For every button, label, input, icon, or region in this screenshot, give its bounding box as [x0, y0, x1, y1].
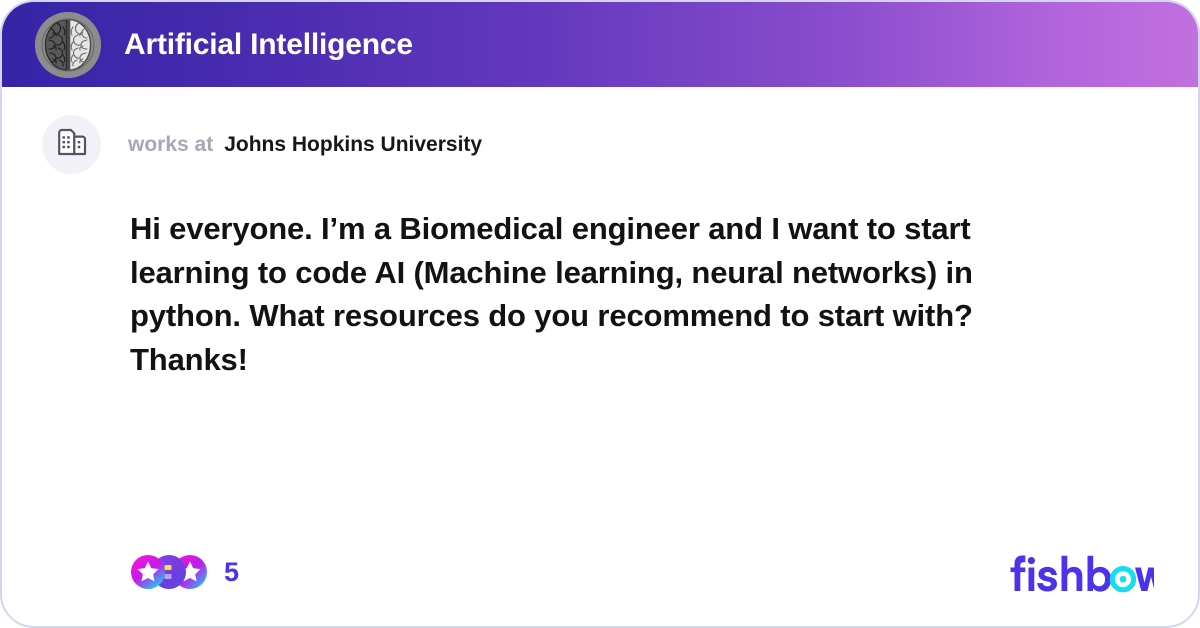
star-reaction-icon[interactable] — [130, 554, 166, 590]
reaction-count: 5 — [224, 559, 239, 586]
works-at-label: works at — [128, 133, 213, 157]
author-row: works at Johns Hopkins University — [2, 87, 1198, 174]
post-footer: 5 — [2, 518, 1198, 626]
fishbowl-logo — [1004, 549, 1154, 595]
bowl-avatar — [35, 12, 101, 78]
post-text: Hi everyone. I’m a Biomedical engineer a… — [130, 207, 1040, 381]
author-meta: works at Johns Hopkins University — [128, 133, 482, 157]
bowl-header: Artificial Intelligence — [2, 2, 1198, 87]
bowl-title: Artificial Intelligence — [124, 28, 413, 62]
brain-icon — [35, 12, 101, 78]
office-building-icon — [55, 125, 89, 164]
reactions-group[interactable]: 5 — [130, 554, 239, 590]
reaction-badge-stack[interactable] — [130, 554, 208, 590]
company-name: Johns Hopkins University — [224, 133, 482, 157]
company-avatar — [42, 115, 101, 174]
fishbowl-post-card: Artificial Intelligence — [0, 0, 1200, 628]
post-body: works at Johns Hopkins University Hi eve… — [2, 87, 1198, 626]
